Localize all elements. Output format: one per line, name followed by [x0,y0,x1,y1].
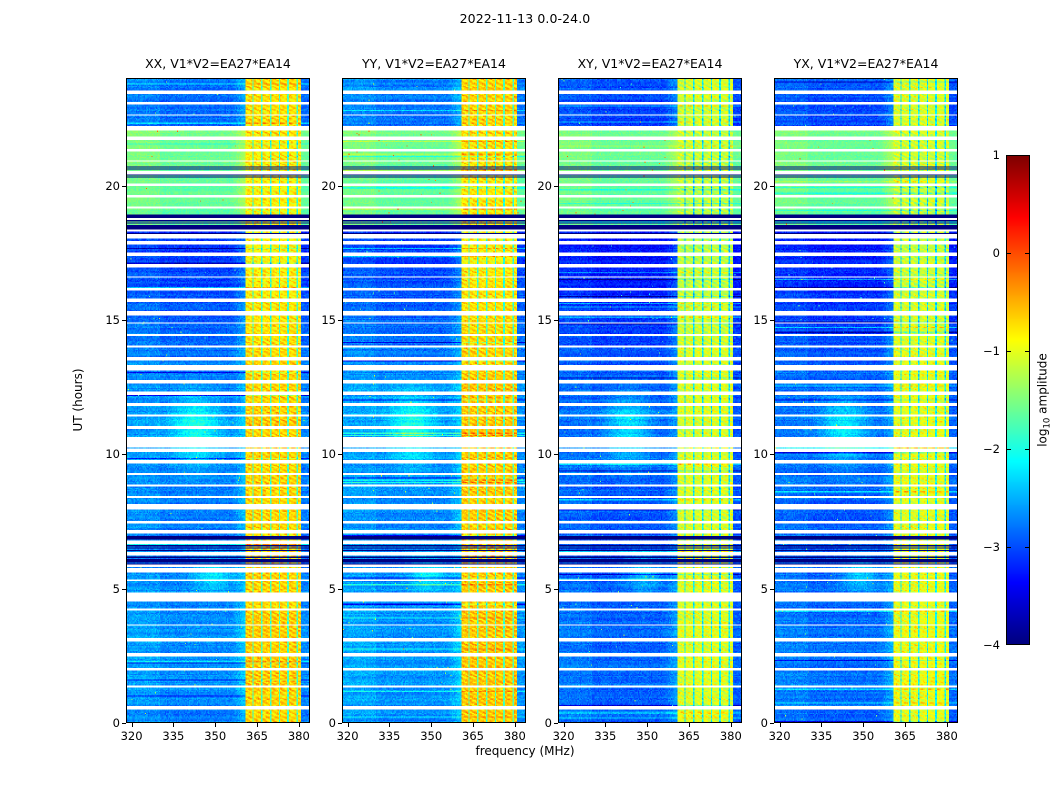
plot-area-yy[interactable] [342,78,526,723]
y-tick-mark [770,589,774,590]
y-tick-mark [554,589,558,590]
colorbar-label-main: log [1035,428,1049,446]
x-tick-mark [564,723,565,727]
colorbar-tick-label: 0 [993,246,1006,260]
x-tick-mark [348,723,349,727]
colorbar: −4−3−2−101 [1006,155,1030,645]
x-tick-mark [731,723,732,727]
panel-title-xy: XY, V1*V2=EA27*EA14 [578,56,723,71]
colorbar-tick-mark [1025,449,1030,450]
waterfall-image-xx [127,79,309,722]
colorbar-label-sub: 10 [1043,418,1050,429]
x-tick-mark [132,723,133,727]
colorbar-tick-mark [1025,253,1030,254]
waterfall-image-xy [559,79,741,722]
y-tick-mark [122,589,126,590]
x-tick-mark [605,723,606,727]
colorbar-tick-mark [1006,547,1011,548]
colorbar-tick-label: −2 [983,442,1006,456]
colorbar-tick-label: −3 [983,540,1006,554]
waterfall-image-yy [343,79,525,722]
y-tick-mark [122,454,126,455]
x-tick-mark [389,723,390,727]
colorbar-tick-label: 1 [993,148,1006,162]
y-tick-mark [770,454,774,455]
x-tick-mark [905,723,906,727]
colorbar-tick-mark [1025,351,1030,352]
y-tick-mark [338,186,342,187]
colorbar-tick-mark [1006,253,1011,254]
y-axis-label: UT (hours) [71,368,85,431]
x-tick-mark [431,723,432,727]
colorbar-label: log10 amplitude [1035,353,1050,447]
waterfall-panel-xy: XY, V1*V2=EA27*EA14051015203203353503653… [558,78,742,723]
x-tick-mark [173,723,174,727]
x-tick-mark [947,723,948,727]
x-tick-mark [515,723,516,727]
y-tick-mark [338,589,342,590]
y-tick-mark [554,320,558,321]
y-tick-mark [338,320,342,321]
plot-area-xx[interactable] [126,78,310,723]
panel-title-yy: YY, V1*V2=EA27*EA14 [362,56,506,71]
waterfall-panel-xx: XX, V1*V2=EA27*EA14051015203203353503653… [126,78,310,723]
waterfall-image-yx [775,79,957,722]
waterfall-panel-yy: YY, V1*V2=EA27*EA14051015203203353503653… [342,78,526,723]
x-tick-mark [647,723,648,727]
waterfall-panel-yx: YX, V1*V2=EA27*EA14051015203203353503653… [774,78,958,723]
colorbar-tick-mark [1006,449,1011,450]
y-tick-mark [554,454,558,455]
x-tick-mark [257,723,258,727]
x-tick-mark [215,723,216,727]
y-tick-mark [770,320,774,321]
colorbar-tick-mark [1025,547,1030,548]
y-tick-mark [554,186,558,187]
x-tick-mark [821,723,822,727]
y-tick-mark [770,186,774,187]
x-tick-mark [473,723,474,727]
figure-canvas: 2022-11-13 0.0-24.0 UT (hours) frequency… [0,0,1050,800]
colorbar-tick-mark [1006,351,1011,352]
y-tick-mark [122,186,126,187]
colorbar-label-tail: amplitude [1035,353,1049,417]
plot-area-yx[interactable] [774,78,958,723]
panel-title-xx: XX, V1*V2=EA27*EA14 [145,56,291,71]
colorbar-tick-label: −1 [983,344,1006,358]
figure-suptitle: 2022-11-13 0.0-24.0 [0,11,1050,26]
x-axis-label: frequency (MHz) [0,744,1050,758]
plot-area-xy[interactable] [558,78,742,723]
panel-title-yx: YX, V1*V2=EA27*EA14 [794,56,939,71]
y-tick-mark [122,320,126,321]
x-tick-mark [689,723,690,727]
colorbar-tick-label: −4 [983,638,1006,652]
y-tick-mark [338,454,342,455]
colorbar-gradient [1006,155,1030,645]
x-tick-mark [780,723,781,727]
x-tick-mark [863,723,864,727]
x-tick-mark [299,723,300,727]
